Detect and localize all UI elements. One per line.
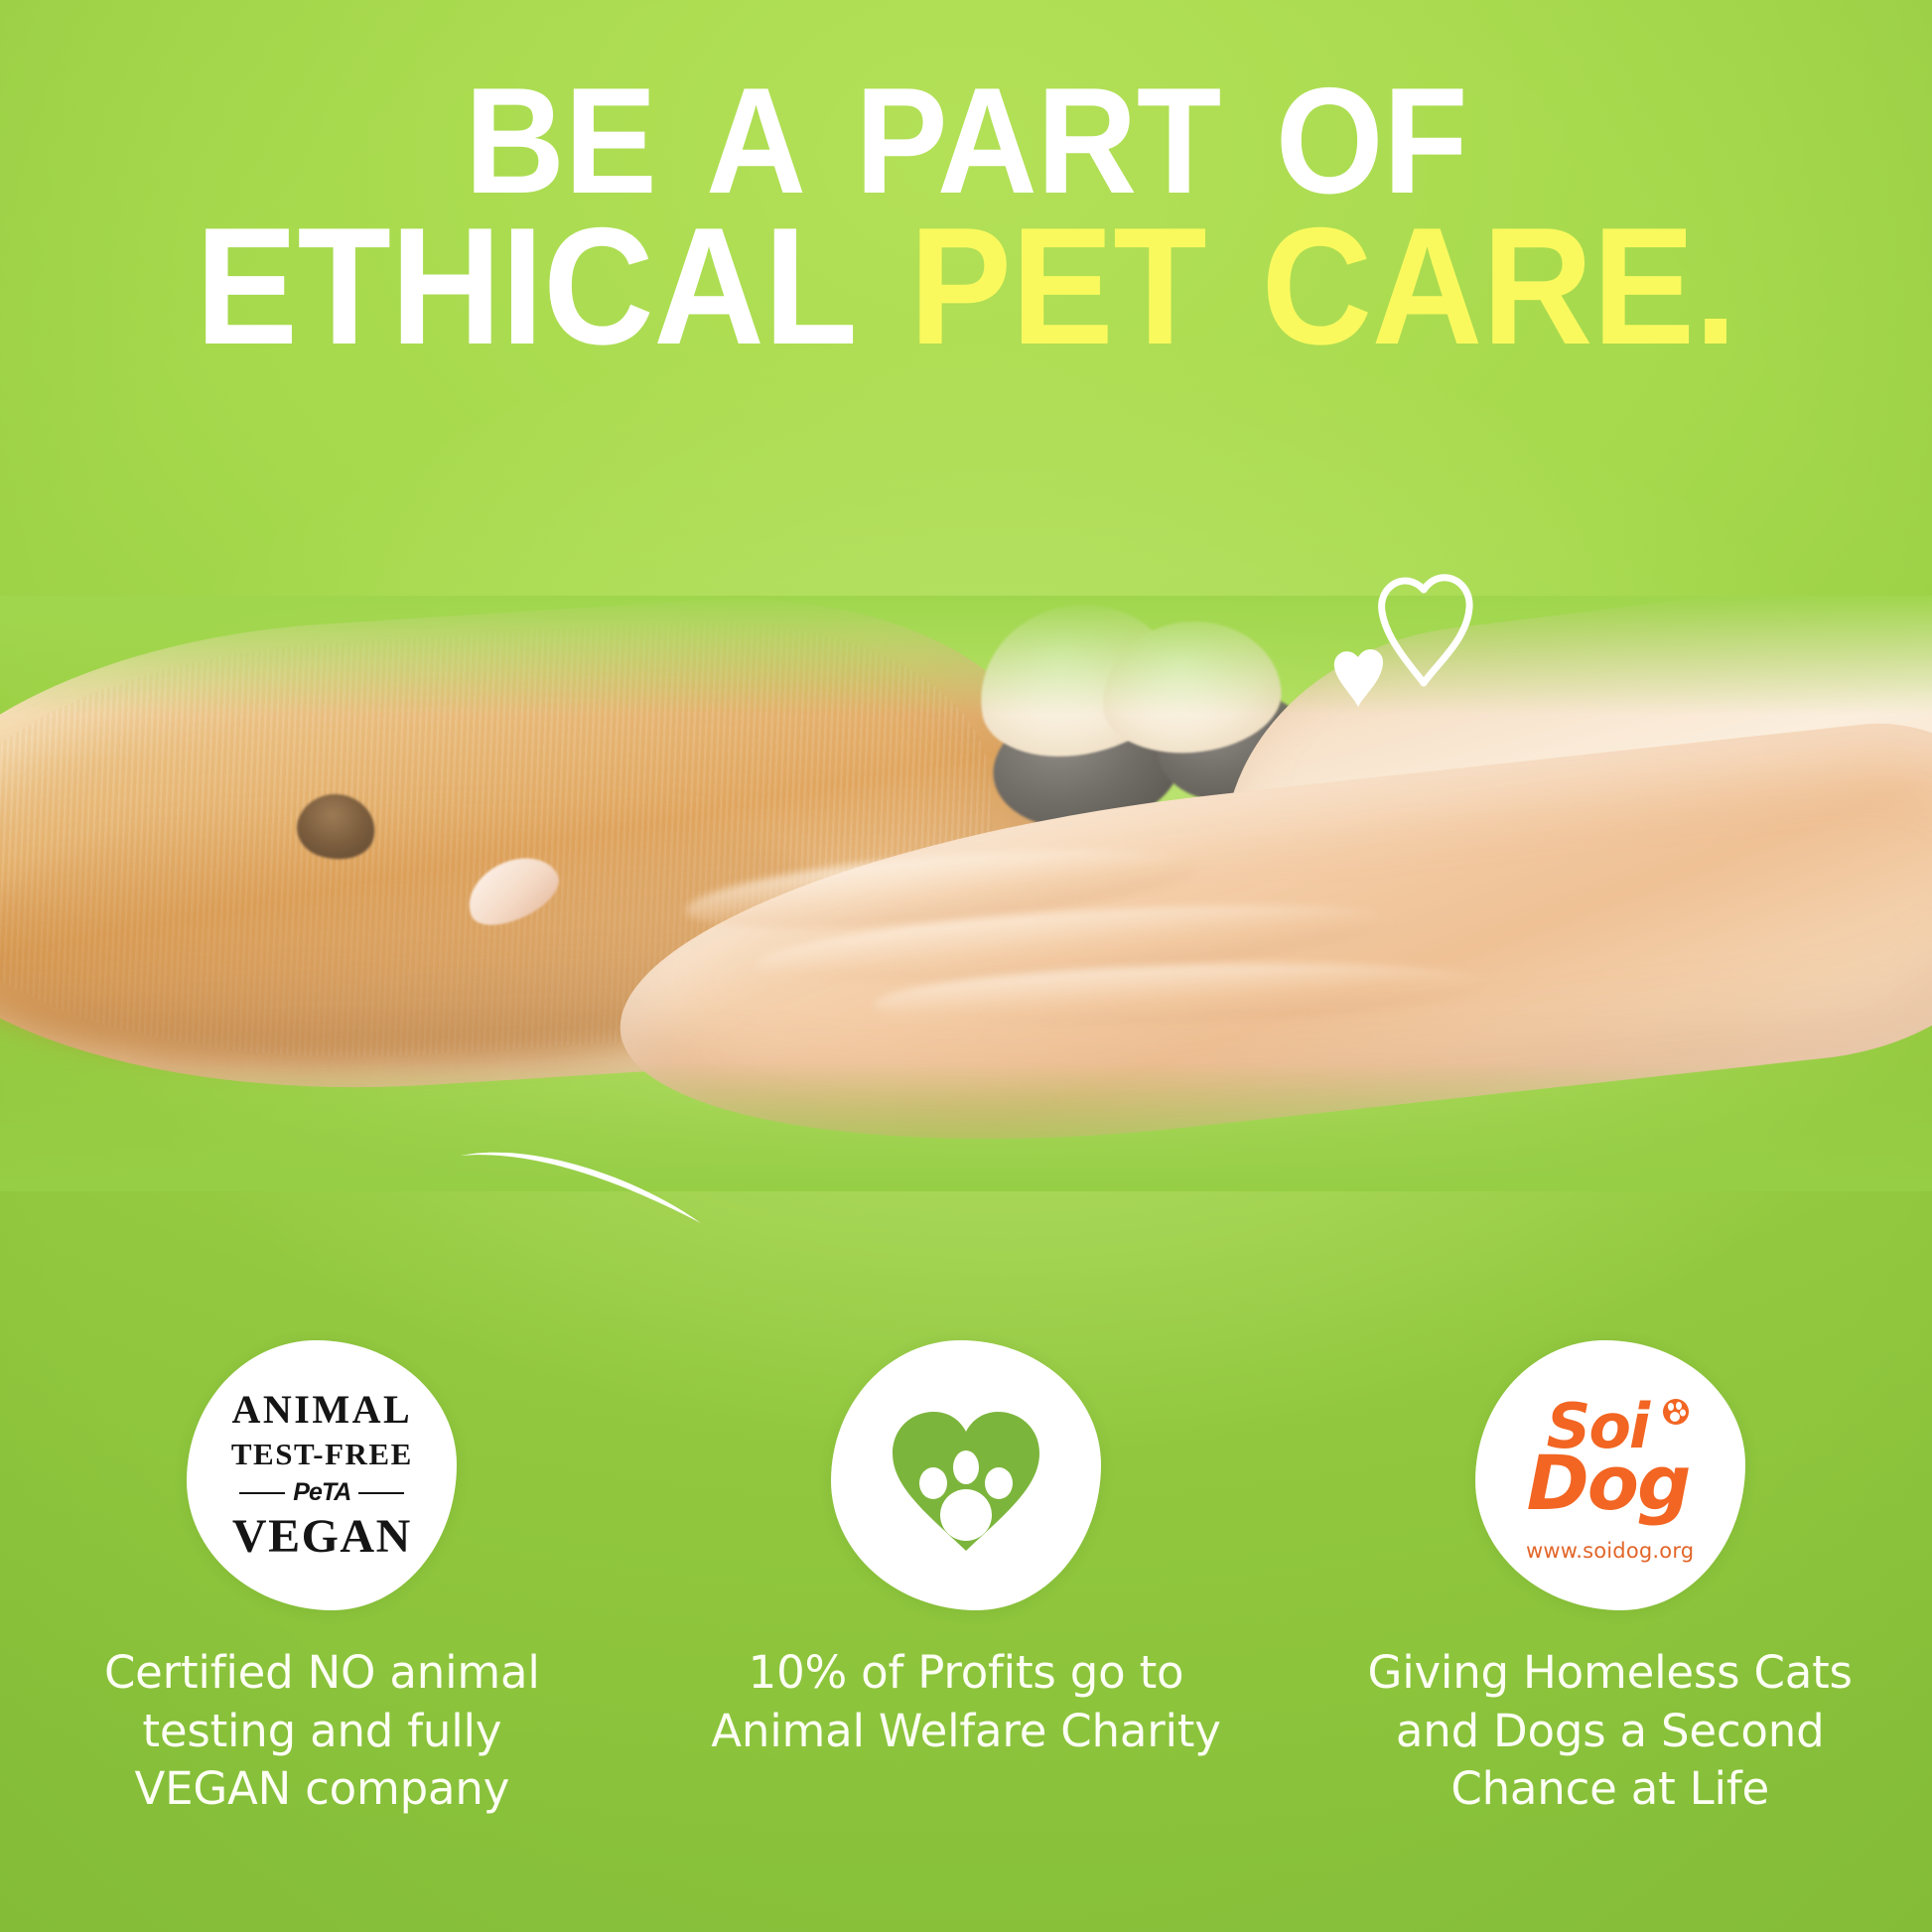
smile-swoosh-decoration — [457, 1132, 735, 1241]
peta-line-vegan: VEGAN — [222, 1513, 421, 1561]
badges-row: ANIMAL TEST-FREE PeTA VEGAN Certified NO… — [0, 1340, 1932, 1819]
heart-paw-icon — [877, 1386, 1055, 1565]
heart-filled-icon — [1334, 649, 1383, 707]
paw-toe-center — [953, 1450, 979, 1484]
headline-block: BE A PART OF ETHICAL PET CARE. — [0, 69, 1932, 366]
paw-main-pad — [940, 1489, 992, 1541]
headline-word-pet-care: PET CARE. — [909, 193, 1736, 379]
peta-rule-left — [239, 1492, 285, 1494]
hearts-icon — [1320, 556, 1509, 715]
badge-animal-welfare[interactable]: 10% of Profits go to Animal Welfare Char… — [644, 1340, 1289, 1819]
badge-blob-heart-paw — [831, 1340, 1101, 1610]
soidog-website-url: www.soidog.org — [1511, 1541, 1710, 1562]
headline-word-ethical: ETHICAL — [196, 193, 855, 379]
peta-line-test-free: TEST-FREE — [222, 1439, 421, 1469]
badge-blob-soidog: Soi Dog www.soidog.org — [1475, 1340, 1745, 1610]
badge-caption-animal-welfare: 10% of Profits go to Animal Welfare Char… — [708, 1644, 1224, 1760]
paw-toe-left — [919, 1467, 947, 1499]
heart-outline-icon — [1382, 578, 1469, 683]
paw-toe-right — [985, 1467, 1013, 1499]
soidog-word-dog: Dog — [1527, 1446, 1690, 1521]
badge-caption-soidog: Giving Homeless Cats and Dogs a Second C… — [1352, 1644, 1868, 1819]
peta-mark-row: PeTA — [222, 1480, 421, 1505]
peta-rule-right — [358, 1492, 404, 1494]
headline-line-2: ETHICAL PET CARE. — [77, 207, 1855, 366]
poster-canvas: BE A PART OF ETHICAL PET CARE. — [0, 0, 1932, 1932]
peta-line-animal: ANIMAL — [222, 1390, 421, 1430]
soidog-paw-dot-icon — [1662, 1398, 1690, 1426]
badge-soi-dog[interactable]: Soi Dog www.soidog.org Giving Homeless C… — [1288, 1340, 1932, 1819]
swoosh-icon — [457, 1132, 735, 1241]
soidog-logo: Soi Dog www.soidog.org — [1511, 1390, 1710, 1562]
peta-brand-mark: PeTA — [293, 1480, 350, 1505]
badge-caption-peta: Certified NO animal testing and fully VE… — [64, 1644, 580, 1819]
badge-peta-vegan[interactable]: ANIMAL TEST-FREE PeTA VEGAN Certified NO… — [0, 1340, 644, 1819]
badge-blob-peta: ANIMAL TEST-FREE PeTA VEGAN — [187, 1340, 457, 1610]
soidog-wordmark: Soi Dog — [1511, 1390, 1710, 1539]
peta-logo: ANIMAL TEST-FREE PeTA VEGAN — [222, 1390, 421, 1561]
hand-drawn-hearts-decoration — [1320, 556, 1509, 715]
hero-photo-dog-paw-in-hand — [0, 596, 1932, 1191]
